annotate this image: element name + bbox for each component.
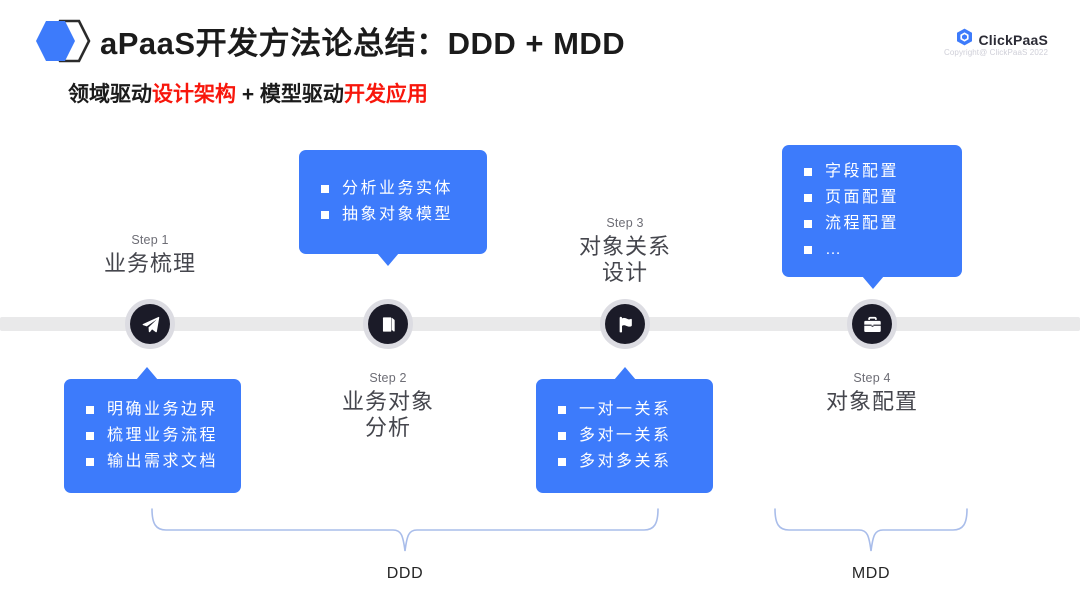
briefcase-icon (863, 315, 882, 334)
timeline-node-step-1[interactable] (125, 299, 175, 349)
step-caption-3: Step 3 对象关系 设计 (525, 216, 725, 286)
brace-label-ddd: DDD (305, 565, 505, 583)
callout-step-2: 分析业务实体 抽象对象模型 (299, 150, 487, 254)
bullet-square-icon (804, 220, 812, 228)
timeline-node-step-4[interactable] (847, 299, 897, 349)
book-icon (379, 315, 398, 334)
step-index-label: Step 2 (288, 371, 488, 385)
callout-list-item: 一对一关系 (558, 397, 693, 423)
callout-item-label: 明确业务边界 (107, 402, 218, 418)
bullet-square-icon (558, 406, 566, 414)
callout-item-label: 抽象对象模型 (342, 207, 453, 223)
callout-list-item: 梳理业务流程 (86, 423, 221, 449)
callout-item-label: 输出需求文档 (107, 454, 218, 470)
step-title: 业务梳理 (50, 251, 250, 277)
step-index-label: Step 3 (525, 216, 725, 230)
timeline-node-step-2[interactable] (363, 299, 413, 349)
callout-step-4: 字段配置 页面配置 流程配置 … (782, 145, 962, 277)
callout-list-item: 多对多关系 (558, 449, 693, 475)
subtitle-part-2-highlight: 设计架构 (152, 83, 236, 106)
callout-step-1: 明确业务边界 梳理业务流程 输出需求文档 (64, 379, 241, 493)
node-core (852, 304, 892, 344)
callout-list-item: … (804, 237, 942, 263)
bullet-square-icon (804, 168, 812, 176)
brand-block: ClickPaaS Copyright@ ClickPaaS 2022 (944, 28, 1048, 57)
step-title: 对象配置 (772, 389, 972, 415)
callout-tail-icon (136, 367, 158, 380)
step-index-label: Step 1 (50, 233, 250, 247)
bullet-square-icon (86, 406, 94, 414)
callout-item-label: 多对一关系 (579, 428, 672, 444)
callout-item-label: 字段配置 (825, 164, 899, 180)
subtitle-part-1: 领域驱动 (68, 83, 152, 106)
page-subtitle: 领域驱动设计架构 + 模型驱动开发应用 (68, 78, 428, 108)
callout-list-item: 页面配置 (804, 185, 942, 211)
callout-list-item: 明确业务边界 (86, 397, 221, 423)
bullet-square-icon (86, 432, 94, 440)
step-title: 业务对象 分析 (288, 389, 488, 441)
callout-list-item: 抽象对象模型 (321, 202, 467, 228)
callout-list: 分析业务实体 抽象对象模型 (321, 176, 467, 228)
step-index-label: Step 4 (772, 371, 972, 385)
brand-copyright: Copyright@ ClickPaaS 2022 (944, 48, 1048, 57)
callout-list-item: 多对一关系 (558, 423, 693, 449)
node-core (368, 304, 408, 344)
callout-item-label: … (825, 242, 844, 258)
timeline-node-step-3[interactable] (600, 299, 650, 349)
step-title: 对象关系 设计 (525, 234, 725, 286)
subtitle-part-4-highlight: 开发应用 (344, 83, 428, 106)
bullet-square-icon (321, 211, 329, 219)
bullet-square-icon (804, 246, 812, 254)
bullet-square-icon (558, 458, 566, 466)
brace-ddd (150, 508, 660, 553)
callout-step-3: 一对一关系 多对一关系 多对多关系 (536, 379, 713, 493)
callout-list: 一对一关系 多对一关系 多对多关系 (558, 397, 693, 475)
callout-list: 字段配置 页面配置 流程配置 … (804, 159, 942, 263)
brand-name: ClickPaaS (978, 32, 1048, 48)
callout-tail-icon (614, 367, 636, 380)
bullet-square-icon (804, 194, 812, 202)
bullet-square-icon (321, 185, 329, 193)
callout-list-item: 字段配置 (804, 159, 942, 185)
step-caption-1: Step 1 业务梳理 (50, 233, 250, 277)
subtitle-part-3: + 模型驱动 (236, 83, 344, 106)
step-caption-4: Step 4 对象配置 (772, 371, 972, 415)
brace-label-mdd: MDD (771, 565, 971, 583)
callout-item-label: 一对一关系 (579, 402, 672, 418)
node-core (605, 304, 645, 344)
callout-item-label: 页面配置 (825, 190, 899, 206)
callout-item-label: 梳理业务流程 (107, 428, 218, 444)
bullet-square-icon (558, 432, 566, 440)
callout-list: 明确业务边界 梳理业务流程 输出需求文档 (86, 397, 221, 475)
step-caption-2: Step 2 业务对象 分析 (288, 371, 488, 441)
flag-icon (616, 315, 635, 334)
callout-item-label: 分析业务实体 (342, 181, 453, 197)
bullet-square-icon (86, 458, 94, 466)
paper-plane-icon (141, 315, 160, 334)
page-title: aPaaS开发方法论总结：DDD + MDD (100, 18, 625, 63)
callout-tail-icon (377, 253, 399, 266)
callout-list-item: 分析业务实体 (321, 176, 467, 202)
callout-tail-icon (862, 276, 884, 289)
callout-item-label: 多对多关系 (579, 454, 672, 470)
callout-list-item: 输出需求文档 (86, 449, 221, 475)
brace-mdd (773, 508, 969, 553)
callout-list-item: 流程配置 (804, 211, 942, 237)
hexagon-logo-icon (32, 18, 96, 64)
callout-item-label: 流程配置 (825, 216, 899, 232)
node-core (130, 304, 170, 344)
